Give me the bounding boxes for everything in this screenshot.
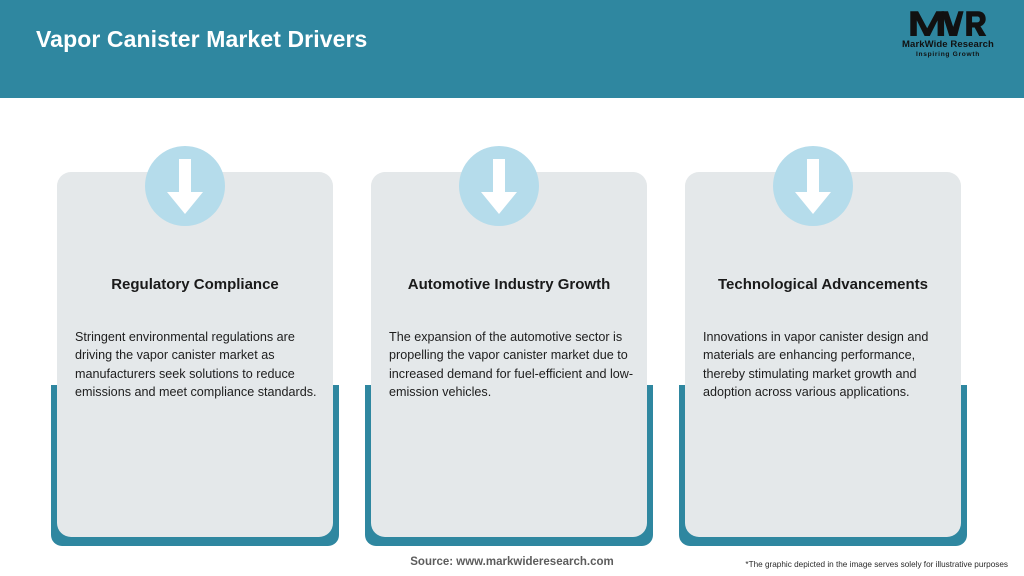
arrow-down-icon (165, 159, 205, 214)
disclaimer-note: *The graphic depicted in the image serve… (745, 560, 1008, 569)
driver-card-1[interactable]: Regulatory Compliance Stringent environm… (51, 146, 339, 546)
arrow-down-icon (479, 159, 519, 214)
arrow-down-icon-badge (773, 146, 853, 226)
card-description: The expansion of the automotive sector i… (389, 328, 639, 401)
page-header: Vapor Canister Market Drivers MarkWide R… (0, 0, 1024, 98)
brand-logo: MarkWide Research Inspiring Growth (894, 8, 1002, 66)
driver-card-3[interactable]: Technological Advancements Innovations i… (679, 146, 967, 546)
logo-tagline: Inspiring Growth (894, 51, 1002, 58)
arrow-down-icon-badge (459, 146, 539, 226)
infographic-page: Vapor Canister Market Drivers MarkWide R… (0, 0, 1024, 576)
card-surface: Automotive Industry Growth The expansion… (371, 172, 647, 537)
card-surface: Regulatory Compliance Stringent environm… (57, 172, 333, 537)
card-surface: Technological Advancements Innovations i… (685, 172, 961, 537)
arrow-down-icon-badge (145, 146, 225, 226)
mwr-logo-icon (909, 8, 987, 38)
card-title: Regulatory Compliance (67, 276, 323, 294)
card-description: Innovations in vapor canister design and… (703, 328, 953, 401)
arrow-down-icon (793, 159, 833, 214)
card-title: Automotive Industry Growth (381, 276, 637, 294)
card-description: Stringent environmental regulations are … (75, 328, 325, 401)
page-title: Vapor Canister Market Drivers (36, 26, 367, 53)
driver-card-2[interactable]: Automotive Industry Growth The expansion… (365, 146, 653, 546)
card-title: Technological Advancements (695, 276, 951, 294)
logo-company-name: MarkWide Research (894, 39, 1002, 50)
